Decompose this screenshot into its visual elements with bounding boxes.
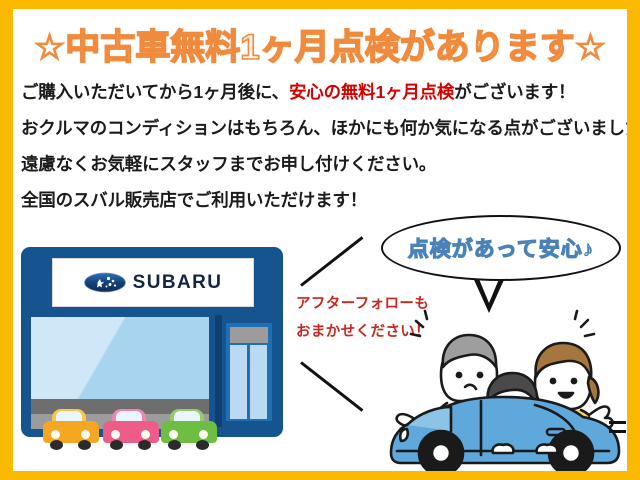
subaru-logo-icon	[84, 272, 126, 293]
decorative-dash-upper	[609, 421, 626, 424]
page-title: ☆中古車無料1ヶ月点検があります☆	[13, 19, 627, 70]
ad-canvas: ☆中古車無料1ヶ月点検があります☆ ご購入いただいてから1ヶ月後に、安心の無料1…	[13, 9, 627, 471]
blue-car	[391, 397, 619, 471]
pointer-line-bottom	[300, 361, 363, 411]
subaru-brand-text: SUBARU	[133, 272, 223, 294]
speech-bubble: 点検があって安心♪	[381, 215, 621, 281]
orange-car	[43, 408, 99, 452]
green-car	[161, 408, 217, 452]
body-line-1-part-b: がございます！	[454, 82, 575, 102]
excitement-marks	[411, 311, 594, 336]
pink-car	[103, 408, 159, 452]
dealership-illustration: SUBARU	[21, 247, 283, 452]
body-line-4: 全国のスバル販売店でご利用いただけます！	[21, 187, 621, 212]
pointer-line-top	[300, 236, 363, 286]
body-line-1-highlight: 安心の無料1ヶ月点検	[289, 82, 454, 102]
advertisement-frame: ☆中古車無料1ヶ月点検があります☆ ご購入いただいてから1ヶ月後に、安心の無料1…	[0, 0, 640, 480]
subaru-sign: SUBARU	[52, 258, 254, 307]
family-in-car-illustration	[385, 305, 625, 471]
body-line-1: ご購入いただいてから1ヶ月後に、安心の無料1ヶ月点検がございます！	[21, 79, 621, 104]
entrance-glass-left	[230, 345, 247, 419]
body-line-2: おクルマのコンディションはもちろん、ほかにも何か気になる点がございましたら	[21, 115, 621, 140]
body-line-3: 遠慮なくお気軽にスタッフまでお申し付けください。	[21, 151, 621, 176]
body-copy: ご購入いただいてから1ヶ月後に、安心の無料1ヶ月点検がございます！ おクルマのコ…	[21, 79, 621, 223]
body-line-1-part-a: ご購入いただいてから1ヶ月後に、	[21, 82, 289, 102]
entrance-header	[230, 327, 268, 343]
decorative-dash-lower	[609, 430, 626, 433]
speech-bubble-text: 点検があって安心♪	[408, 233, 594, 263]
entrance-glass-right	[250, 345, 267, 419]
showroom-window	[31, 317, 209, 412]
